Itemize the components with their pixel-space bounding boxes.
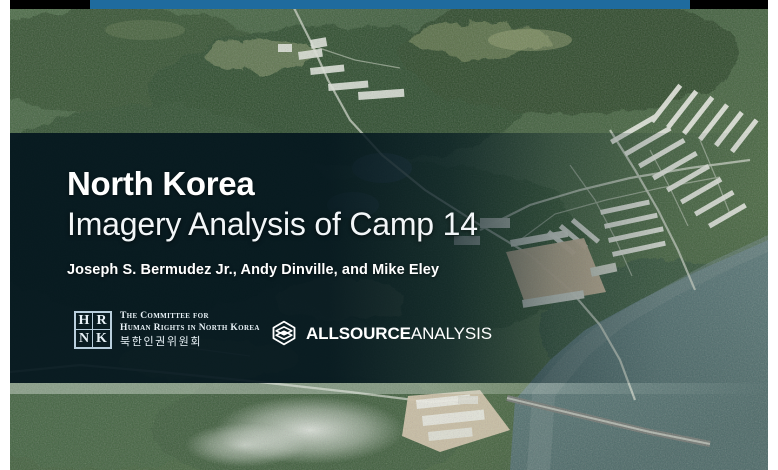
- report-cover-page: North Korea Imagery Analysis of Camp 14 …: [0, 0, 778, 470]
- allsource-name-light: ANALYSIS: [411, 324, 492, 343]
- authors-line: Joseph S. Bermudez Jr., Andy Dinville, a…: [67, 262, 439, 278]
- hrnk-wordmark: The Committee for Human Rights in North …: [120, 311, 260, 350]
- hrnk-line-korean: 북한인권위원회: [120, 336, 260, 350]
- hrnk-letter-h: H: [76, 313, 93, 330]
- hrnk-letter-k: K: [93, 330, 110, 347]
- allsource-name-bold: ALLSOURCE: [306, 324, 411, 343]
- hrnk-line-2: Human Rights in North Korea: [120, 323, 260, 335]
- hexagon-layers-icon: [270, 319, 298, 347]
- page-title: North Korea: [67, 165, 254, 203]
- allsource-wordmark: ALLSOURCEANALYSIS: [306, 325, 492, 342]
- hrnk-letter-r: R: [93, 313, 110, 330]
- hrnk-line-1: The Committee for: [120, 311, 260, 323]
- cover-content: North Korea Imagery Analysis of Camp 14 …: [0, 0, 778, 470]
- allsource-analysis-logo: ALLSOURCEANALYSIS: [270, 319, 492, 347]
- hrnk-mark-icon: H R N K: [74, 311, 112, 349]
- hrnk-letter-n: N: [76, 330, 93, 347]
- page-subtitle: Imagery Analysis of Camp 14: [67, 206, 478, 243]
- hrnk-logo: H R N K The Committee for Human Rights i…: [74, 311, 260, 350]
